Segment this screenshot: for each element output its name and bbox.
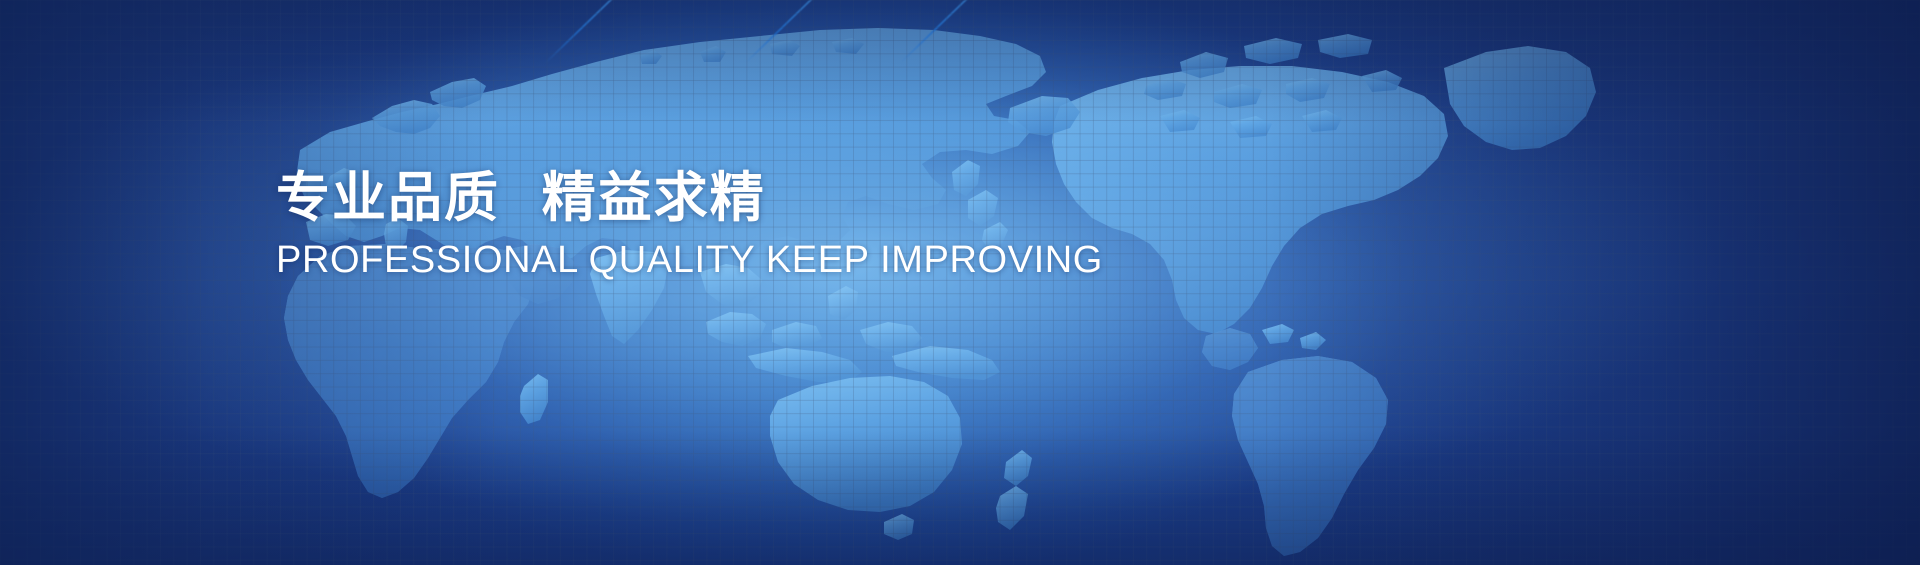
world-map-silhouette [0,0,1920,565]
headline-english: PROFESSIONAL QUALITY KEEP IMPROVING [276,238,1103,282]
hero-copy: 专业品质 精益求精 PROFESSIONAL QUALITY KEEP IMPR… [276,168,1103,282]
hero-banner: 专业品质 精益求精 PROFESSIONAL QUALITY KEEP IMPR… [0,0,1920,565]
headline-chinese: 专业品质 精益求精 [276,168,1103,228]
